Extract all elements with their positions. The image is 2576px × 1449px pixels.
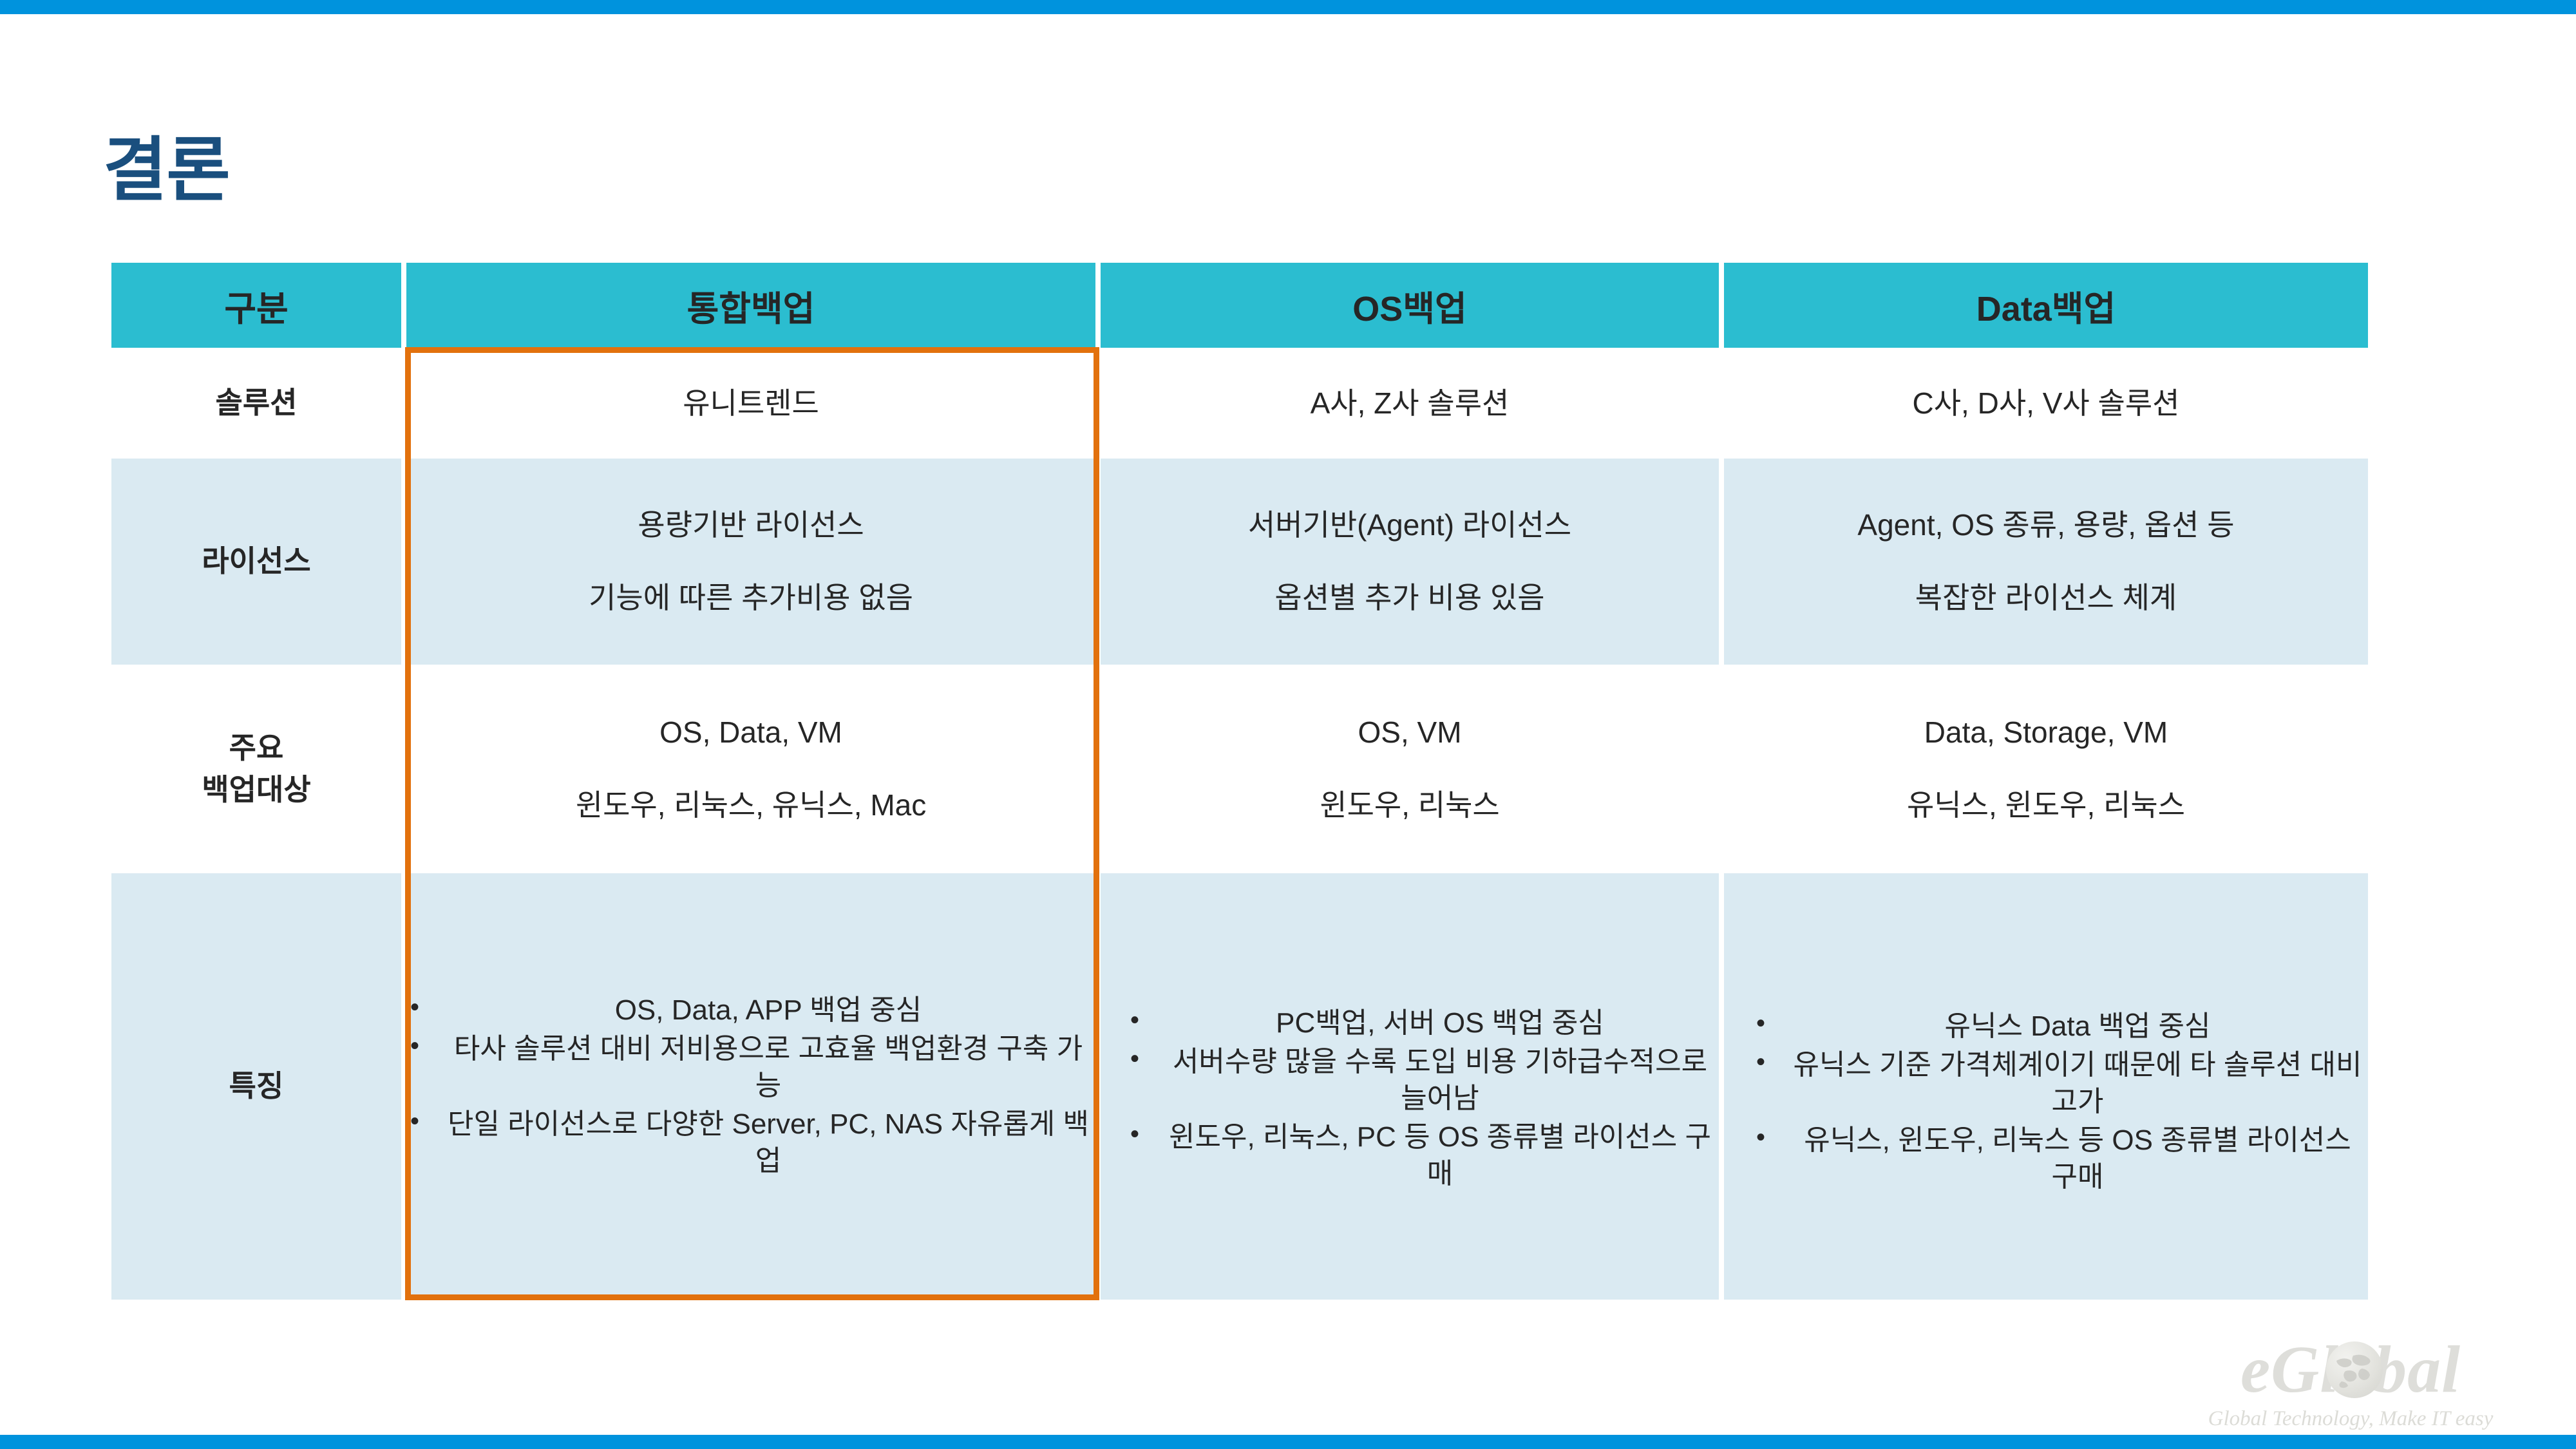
logo-tagline: Global Technology, Make IT easy — [2177, 1407, 2524, 1431]
cell-line-2: 기능에 따른 추가비용 없음 — [406, 576, 1095, 620]
list-item: 유닉스 Data 백업 중심 — [1752, 1008, 2368, 1045]
globe-icon — [2326, 1341, 2383, 1398]
column-header-os-backup: OS백업 — [1101, 263, 1719, 348]
cell-line-1: 서버기반(Agent) 라이선스 — [1101, 504, 1719, 547]
table-row: 솔루션 유니트렌드 A사, Z사 솔루션 C사, D사, V사 솔루션 — [111, 352, 2368, 455]
cell-line-1: Data, Storage, VM — [1724, 711, 2368, 754]
list-item: OS, Data, APP 백업 중심 — [406, 992, 1095, 1028]
company-logo: eGlobal Global Technology, Make IT easy — [2177, 1336, 2524, 1431]
cell-line-1: OS, VM — [1101, 711, 1719, 754]
cell-line-2: 윈도우, 리눅스 — [1101, 784, 1719, 827]
row-label-backup-target: 주요 백업대상 — [111, 668, 401, 869]
cell-line-2: 윈도우, 리눅스, 유닉스, Mac — [406, 784, 1095, 827]
row-label-line-1: 주요 — [111, 727, 401, 769]
cell-solution-data: C사, D사, V사 솔루션 — [1724, 352, 2368, 455]
cell-line-1: 용량기반 라이선스 — [406, 504, 1095, 547]
table-row: 라이선스 용량기반 라이선스 기능에 따른 추가비용 없음 서버기반(Agent… — [111, 459, 2368, 665]
column-header-category: 구분 — [111, 263, 401, 348]
cell-line-1: Agent, OS 종류, 용량, 옵션 등 — [1724, 504, 2368, 547]
cell-target-os: OS, VM 윈도우, 리눅스 — [1101, 668, 1719, 869]
list-item: 단일 라이선스로 다양한 Server, PC, NAS 자유롭게 백업 — [406, 1106, 1095, 1179]
cell-target-data: Data, Storage, VM 유닉스, 윈도우, 리눅스 — [1724, 668, 2368, 869]
comparison-table-container: 구분 통합백업 OS백업 Data백업 솔루션 유니트렌드 A사, Z사 솔루션… — [106, 259, 2365, 1303]
cell-target-integrated: OS, Data, VM 윈도우, 리눅스, 유닉스, Mac — [406, 668, 1095, 869]
cell-line-1: OS, Data, VM — [406, 711, 1095, 754]
feature-list-os: PC백업, 서버 OS 백업 중심 서버수량 많을 수록 도입 비용 기하급수적… — [1126, 1005, 1719, 1193]
logo-suffix: bal — [2373, 1332, 2461, 1406]
feature-list-data: 유닉스 Data 백업 중심 유닉스 기준 가격체계이기 때문에 타 솔루션 대… — [1752, 1008, 2368, 1196]
page-title: 결론 — [103, 135, 230, 205]
comparison-table: 구분 통합백업 OS백업 Data백업 솔루션 유니트렌드 A사, Z사 솔루션… — [106, 259, 2373, 1303]
cell-license-integrated: 용량기반 라이선스 기능에 따른 추가비용 없음 — [406, 459, 1095, 665]
logo-prefix: eGl — [2240, 1332, 2339, 1406]
list-item: 서버수량 많을 수록 도입 비용 기하급수적으로 늘어남 — [1126, 1043, 1719, 1117]
row-label-solution: 솔루션 — [111, 352, 401, 455]
logo-wordmark: eGlobal — [2177, 1336, 2524, 1403]
row-label-line-2: 백업대상 — [111, 769, 401, 811]
cell-features-os: PC백업, 서버 OS 백업 중심 서버수량 많을 수록 도입 비용 기하급수적… — [1101, 873, 1719, 1300]
cell-license-data: Agent, OS 종류, 용량, 옵션 등 복잡한 라이선스 체계 — [1724, 459, 2368, 665]
column-header-data-backup: Data백업 — [1724, 263, 2368, 348]
cell-solution-os: A사, Z사 솔루션 — [1101, 352, 1719, 455]
cell-solution-integrated: 유니트렌드 — [406, 352, 1095, 455]
feature-list-integrated: OS, Data, APP 백업 중심 타사 솔루션 대비 저비용으로 고효율 … — [406, 992, 1095, 1180]
list-item: 타사 솔루션 대비 저비용으로 고효율 백업환경 구축 가능 — [406, 1030, 1095, 1104]
row-label-license: 라이선스 — [111, 459, 401, 665]
cell-line-2: 옵션별 추가 비용 있음 — [1101, 576, 1719, 620]
row-label-features: 특징 — [111, 873, 401, 1300]
cell-features-integrated: OS, Data, APP 백업 중심 타사 솔루션 대비 저비용으로 고효율 … — [406, 873, 1095, 1300]
cell-features-data: 유닉스 Data 백업 중심 유닉스 기준 가격체계이기 때문에 타 솔루션 대… — [1724, 873, 2368, 1300]
cell-license-os: 서버기반(Agent) 라이선스 옵션별 추가 비용 있음 — [1101, 459, 1719, 665]
list-item: 윈도우, 리눅스, PC 등 OS 종류별 라이선스 구매 — [1126, 1119, 1719, 1192]
cell-line-2: 유닉스, 윈도우, 리눅스 — [1724, 784, 2368, 827]
table-row: 주요 백업대상 OS, Data, VM 윈도우, 리눅스, 유닉스, Mac … — [111, 668, 2368, 869]
table-header-row: 구분 통합백업 OS백업 Data백업 — [111, 263, 2368, 348]
list-item: 유닉스, 윈도우, 리눅스 등 OS 종류별 라이선스 구매 — [1752, 1122, 2368, 1195]
column-header-integrated-backup: 통합백업 — [406, 263, 1095, 348]
top-accent-bar — [0, 0, 2576, 14]
table-row: 특징 OS, Data, APP 백업 중심 타사 솔루션 대비 저비용으로 고… — [111, 873, 2368, 1300]
list-item: 유닉스 기준 가격체계이기 때문에 타 솔루션 대비 고가 — [1752, 1046, 2368, 1120]
bottom-accent-bar — [0, 1435, 2576, 1449]
cell-line-2: 복잡한 라이선스 체계 — [1724, 576, 2368, 620]
list-item: PC백업, 서버 OS 백업 중심 — [1126, 1005, 1719, 1041]
